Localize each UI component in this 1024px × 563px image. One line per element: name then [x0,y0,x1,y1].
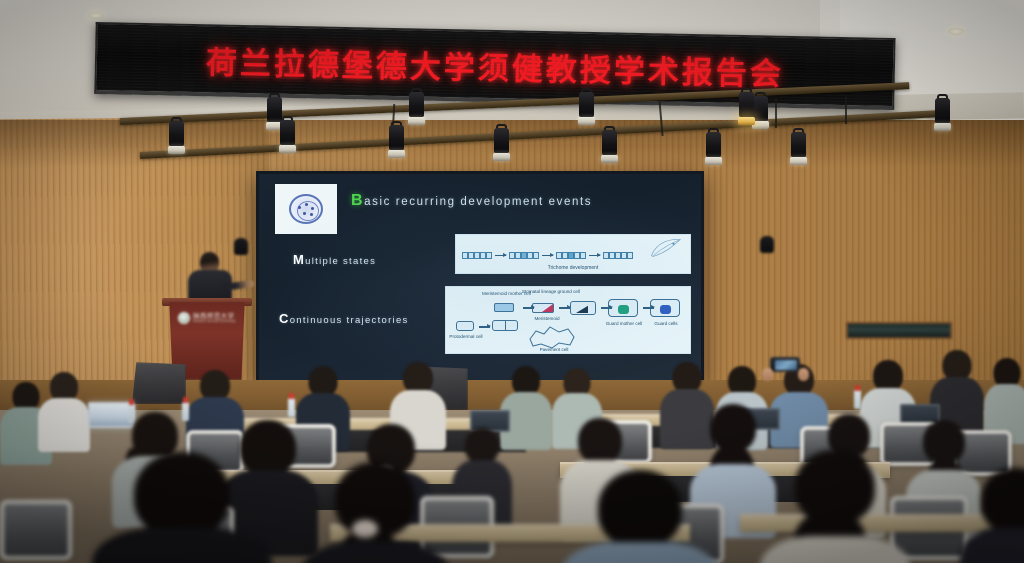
slide-row-label-continuous-trajectories: Continuous trajectories [279,311,409,326]
hand [798,368,809,381]
row-label-initial: M [293,252,305,267]
phone-screen [775,360,797,370]
pavement-cell-label: Pavement cell [532,347,576,352]
arrow-icon [589,255,600,257]
arrow-icon [601,307,612,309]
arrow-icon [523,307,534,309]
stage-spotlight-icon [934,94,951,131]
arrow-icon [479,326,490,328]
stage-spotlight-icon [790,128,807,165]
torso [300,542,450,563]
leaf-sketch-icon [648,237,682,259]
slide-title-initial: B [351,192,364,209]
hair-scrunchie [352,520,378,538]
smartphone [770,357,800,372]
trichome-development-panel: Trichome development [455,234,691,274]
head [465,428,499,464]
wall-speaker-icon [760,236,774,253]
meristemoid-mother-cell-shape [494,303,514,312]
row-label-rest: ontinuous trajectories [290,315,409,326]
torso [760,536,910,563]
torso [38,398,90,452]
arrow-icon [495,255,506,257]
cable [845,96,847,124]
stage-monitor-speaker [132,362,186,404]
cell-stage-2 [509,252,539,259]
podium-english-name: Shaanxi Normal University [193,320,236,323]
hand [762,368,773,381]
stage-spotlight-icon [408,88,425,125]
head [710,404,756,452]
torso [92,528,272,563]
stage-spotlight-icon [601,126,618,163]
meristemoid-label: Meristemoid [530,316,564,321]
slide-title: Basic recurring development events [351,192,592,210]
torso [960,528,1024,563]
slide-title-rest: asic recurring development events [364,196,592,208]
guard-cells-label: Guard cells [646,321,686,326]
university-crest-icon [178,312,190,324]
lecture-hall-photo: 荷兰拉德堡德大学须健教授学术报告会 [0,0,1024,563]
stomatal-lineage-panel: Protodermal cell Meristemoid mother cell… [445,286,691,354]
protodermal-cell-label: Protodermal cell [448,334,484,339]
audience-member-foreground [560,470,720,563]
cell-stage-3 [556,252,586,259]
protodermal-cell-shape [456,321,474,331]
arrow-icon [643,307,654,309]
arrow-icon [542,255,553,257]
podium-nameplate: 陕西师范大学 Shaanxi Normal University [178,310,236,326]
stage-spotlight-icon [578,88,595,125]
chair[interactable] [0,500,72,560]
stage-spotlight-icon [388,121,405,158]
downlight-icon [88,12,104,19]
audience-member-foreground [960,468,1024,563]
slide-row-label-multiple-states: Multiple states [293,252,376,267]
control-room-window [846,322,952,339]
audience-member-foreground [92,452,272,563]
head [134,452,230,538]
projection-screen: Basic recurring development events Multi… [256,171,704,385]
cable [775,98,777,128]
water-bottle [288,398,295,417]
trichome-caption: Trichome development [548,265,599,271]
downlight-icon [948,28,964,35]
stage-spotlight-icon [168,117,185,154]
row-label-rest: ultiple states [305,256,376,267]
meristemoid-mother-cell-label: Meristemoid mother cell [482,291,526,296]
audience-member [38,372,90,448]
stomatal-lineage-ground-cell-label: Stomatal lineage ground cell [522,289,568,294]
head [598,470,682,548]
slide-logo-icon [275,184,337,234]
row-label-initial: C [279,311,290,326]
torso [560,542,720,563]
water-bottle [854,390,861,409]
cell-stage-4 [603,252,633,259]
audience-member-foreground [300,462,450,563]
stage-spotlight-warm-icon [738,88,755,125]
wall-shadow [0,120,1024,168]
head [578,418,622,464]
led-banner-text: 荷兰拉德堡德大学须健教授学术报告会 [206,37,785,94]
audience-member-foreground [760,450,910,563]
pavement-cell-shape [526,325,580,349]
slide-surface: Basic recurring development events Multi… [259,174,701,382]
cell-stage-1 [462,252,492,259]
arrow-icon [559,307,570,309]
stage-spotlight-icon [493,124,510,161]
stage-spotlight-icon [279,116,296,153]
stage-spotlight-icon [705,128,722,165]
head [981,468,1024,534]
head [923,420,965,464]
guard-mother-cell-label: Guard mother cell [601,321,647,326]
